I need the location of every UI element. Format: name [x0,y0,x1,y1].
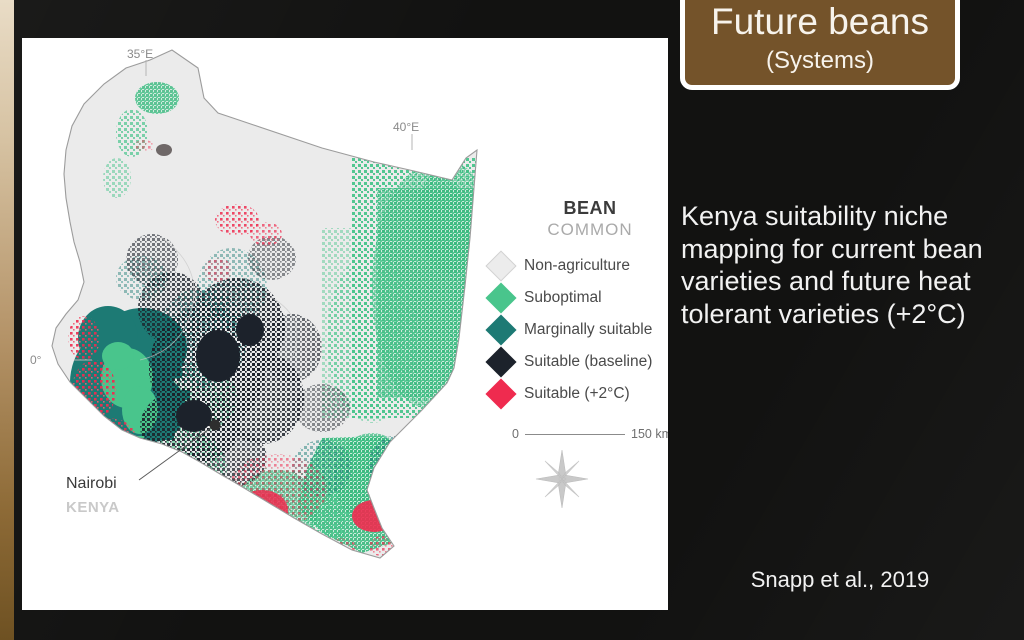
map-legend: BEAN COMMON Non-agriculture Suboptimal M… [488,198,668,410]
graticule-label-35e: 35°E [127,47,153,61]
map-label-nairobi: Nairobi [66,475,117,492]
left-edge-gradient-strip [0,0,14,640]
legend-item-suitable-plus2c: Suitable (+2°C) [488,378,668,410]
slide-title-box: Future beans (Systems) [680,0,960,90]
scalebar-min-label: 0 [512,427,519,441]
legend-item-suitable-baseline: Suitable (baseline) [488,346,668,378]
legend-swatch-diamond-suitable-baseline [485,346,516,377]
legend-subtitle: COMMON [488,220,668,240]
legend-item-marginally-suitable: Marginally suitable [488,314,668,346]
slide-title-main: Future beans [695,3,945,41]
map-scalebar: 0 150 km [512,427,668,441]
legend-swatch-diamond-suitable-plus2c [485,378,516,409]
slide-citation: Snapp et al., 2019 [681,567,999,593]
scalebar-line [525,434,625,435]
slide-title-subtitle: (Systems) [695,47,945,75]
slide-body-text: Kenya suitability niche mapping for curr… [681,200,999,331]
graticule-label-40e: 40°E [393,120,419,134]
legend-title: BEAN [488,198,668,219]
legend-label-suitable-plus2c: Suitable (+2°C) [524,385,630,403]
map-panel: 35°E 40°E 0° Nairobi KENYA BEAN COMMON N… [22,38,668,610]
legend-swatch-diamond-suboptimal [485,282,516,313]
graticule-label-0: 0° [30,353,42,367]
legend-swatch-diamond-non-agriculture [485,250,516,281]
legend-item-suboptimal: Suboptimal [488,282,668,314]
map-label-kenya: KENYA [66,499,120,516]
legend-label-suitable-baseline: Suitable (baseline) [524,353,652,371]
compass-rose-icon [534,448,590,510]
legend-swatch-diamond-marginally-suitable [485,314,516,345]
legend-label-non-agriculture: Non-agriculture [524,257,630,275]
legend-item-non-agriculture: Non-agriculture [488,250,668,282]
scalebar-max-label: 150 km [631,427,668,441]
legend-label-suboptimal: Suboptimal [524,289,602,307]
legend-label-marginally-suitable: Marginally suitable [524,321,652,339]
